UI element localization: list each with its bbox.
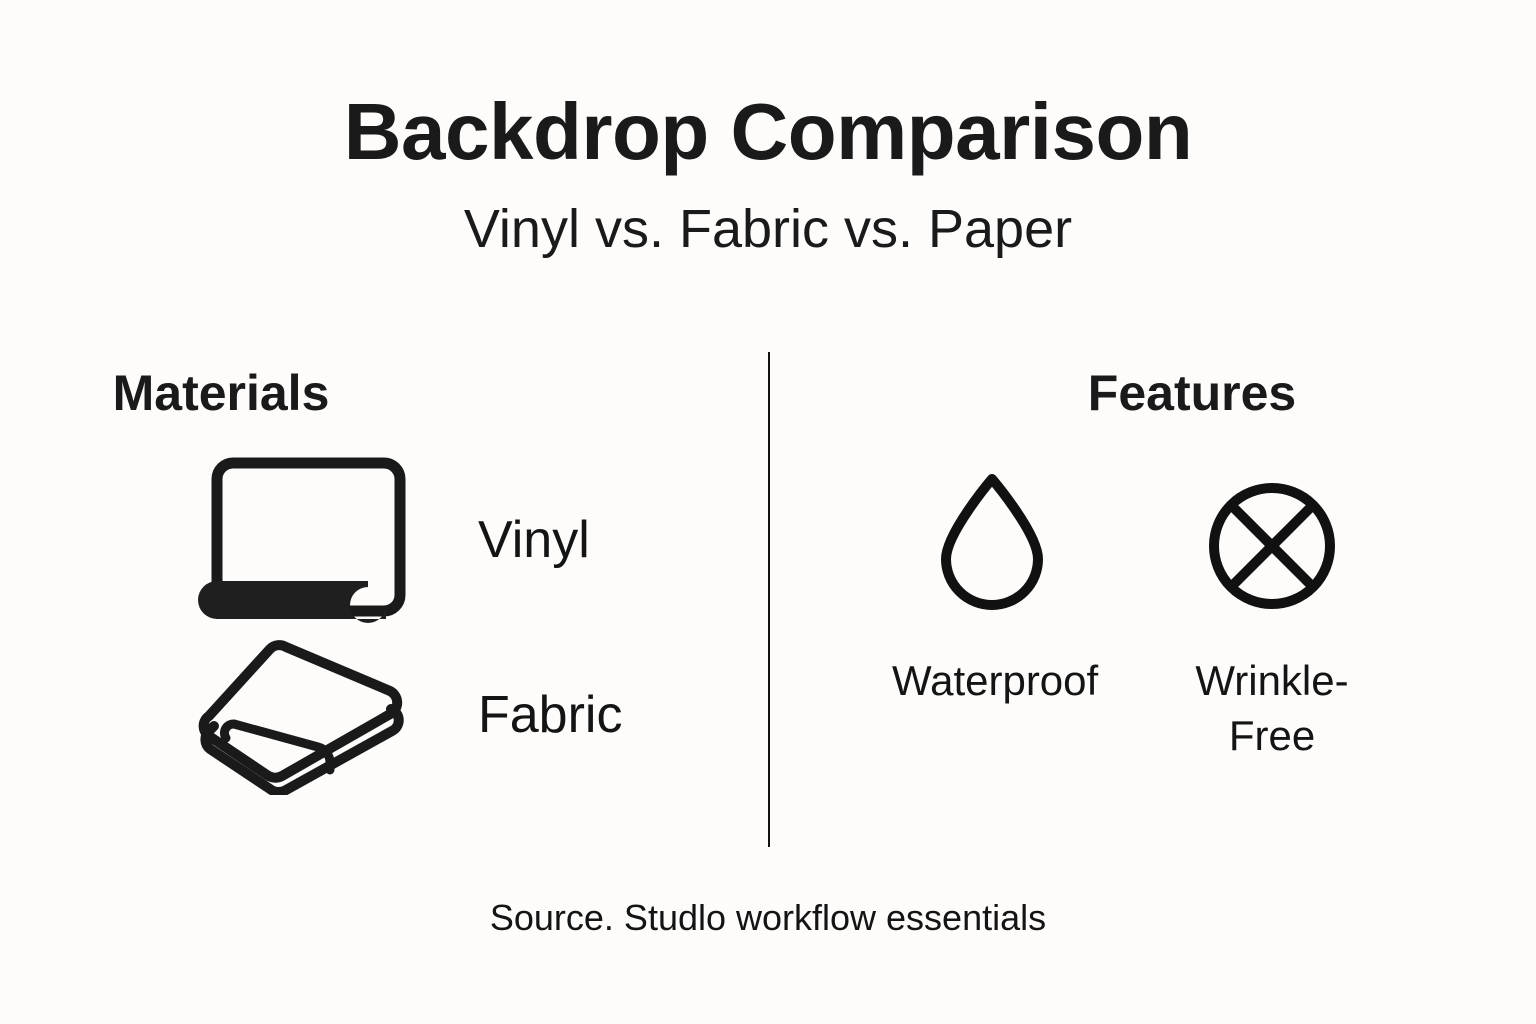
infographic-page: Backdrop Comparison Vinyl vs. Fabric vs.… xyxy=(0,0,1536,1024)
material-label: Vinyl xyxy=(478,514,590,566)
page-title: Backdrop Comparison xyxy=(0,92,1536,172)
features-list: Waterproof Wrinkle-Free xyxy=(852,460,1512,763)
materials-heading: Materials xyxy=(0,368,768,418)
list-item[interactable]: Vinyl xyxy=(0,452,768,627)
feature-label: Wrinkle-Free xyxy=(1172,654,1372,763)
circle-x-icon xyxy=(1132,460,1412,610)
material-label: Fabric xyxy=(478,689,622,741)
folded-fabric-icon xyxy=(180,635,430,795)
page-subtitle: Vinyl vs. Fabric vs. Paper xyxy=(0,202,1536,256)
water-drop-icon xyxy=(852,460,1132,610)
features-column: Features Waterproof xyxy=(768,352,1536,847)
materials-column: Materials Vinyl xyxy=(0,352,768,847)
list-item[interactable]: Fabric xyxy=(0,627,768,802)
list-item[interactable]: Waterproof xyxy=(852,460,1132,763)
list-item[interactable]: Wrinkle-Free xyxy=(1132,460,1412,763)
materials-list: Vinyl Fabric xyxy=(0,452,768,802)
vinyl-roll-icon xyxy=(180,452,430,627)
features-heading: Features xyxy=(768,368,1536,418)
header: Backdrop Comparison Vinyl vs. Fabric vs.… xyxy=(0,92,1536,256)
feature-label: Waterproof xyxy=(892,654,1092,709)
comparison-columns: Materials Vinyl xyxy=(0,352,1536,852)
source-note: Source. Studlo workflow essentials xyxy=(0,897,1536,939)
